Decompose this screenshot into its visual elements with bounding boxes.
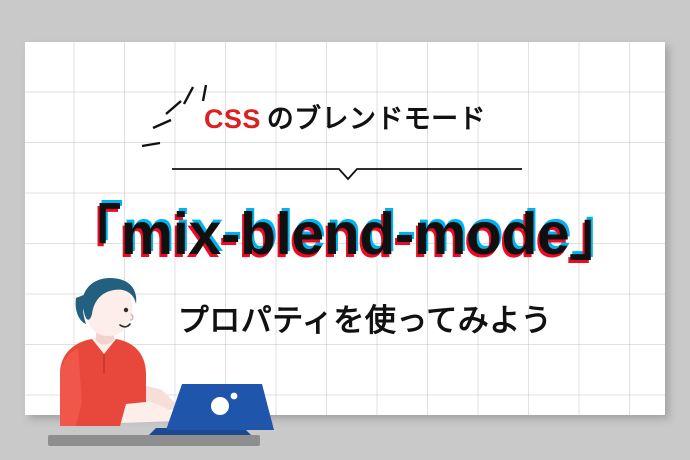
illustration-svg [30, 278, 280, 453]
divider-svg [172, 166, 522, 182]
laptop-logo-dot-icon [231, 393, 238, 400]
main-title: 「mix-blend-mode」 「mix-blend-mode」 「mix-b… [0, 196, 690, 272]
eyebrow-accent-text: CSS [204, 104, 261, 134]
eyebrow-heading: CSSのブレンドモード [0, 97, 690, 136]
eye [124, 308, 128, 312]
poster-canvas: CSSのブレンドモード 「mix-blend-mode」 「mix-blend-… [0, 0, 690, 460]
main-title-ink-layer: 「mix-blend-mode」 [0, 196, 690, 272]
person-at-laptop-illustration [30, 278, 280, 453]
divider-with-notch [172, 166, 522, 182]
laptop-logo-icon [211, 397, 229, 415]
desk-surface [48, 435, 260, 446]
eyebrow-rest-text: のブレンドモード [267, 104, 486, 134]
